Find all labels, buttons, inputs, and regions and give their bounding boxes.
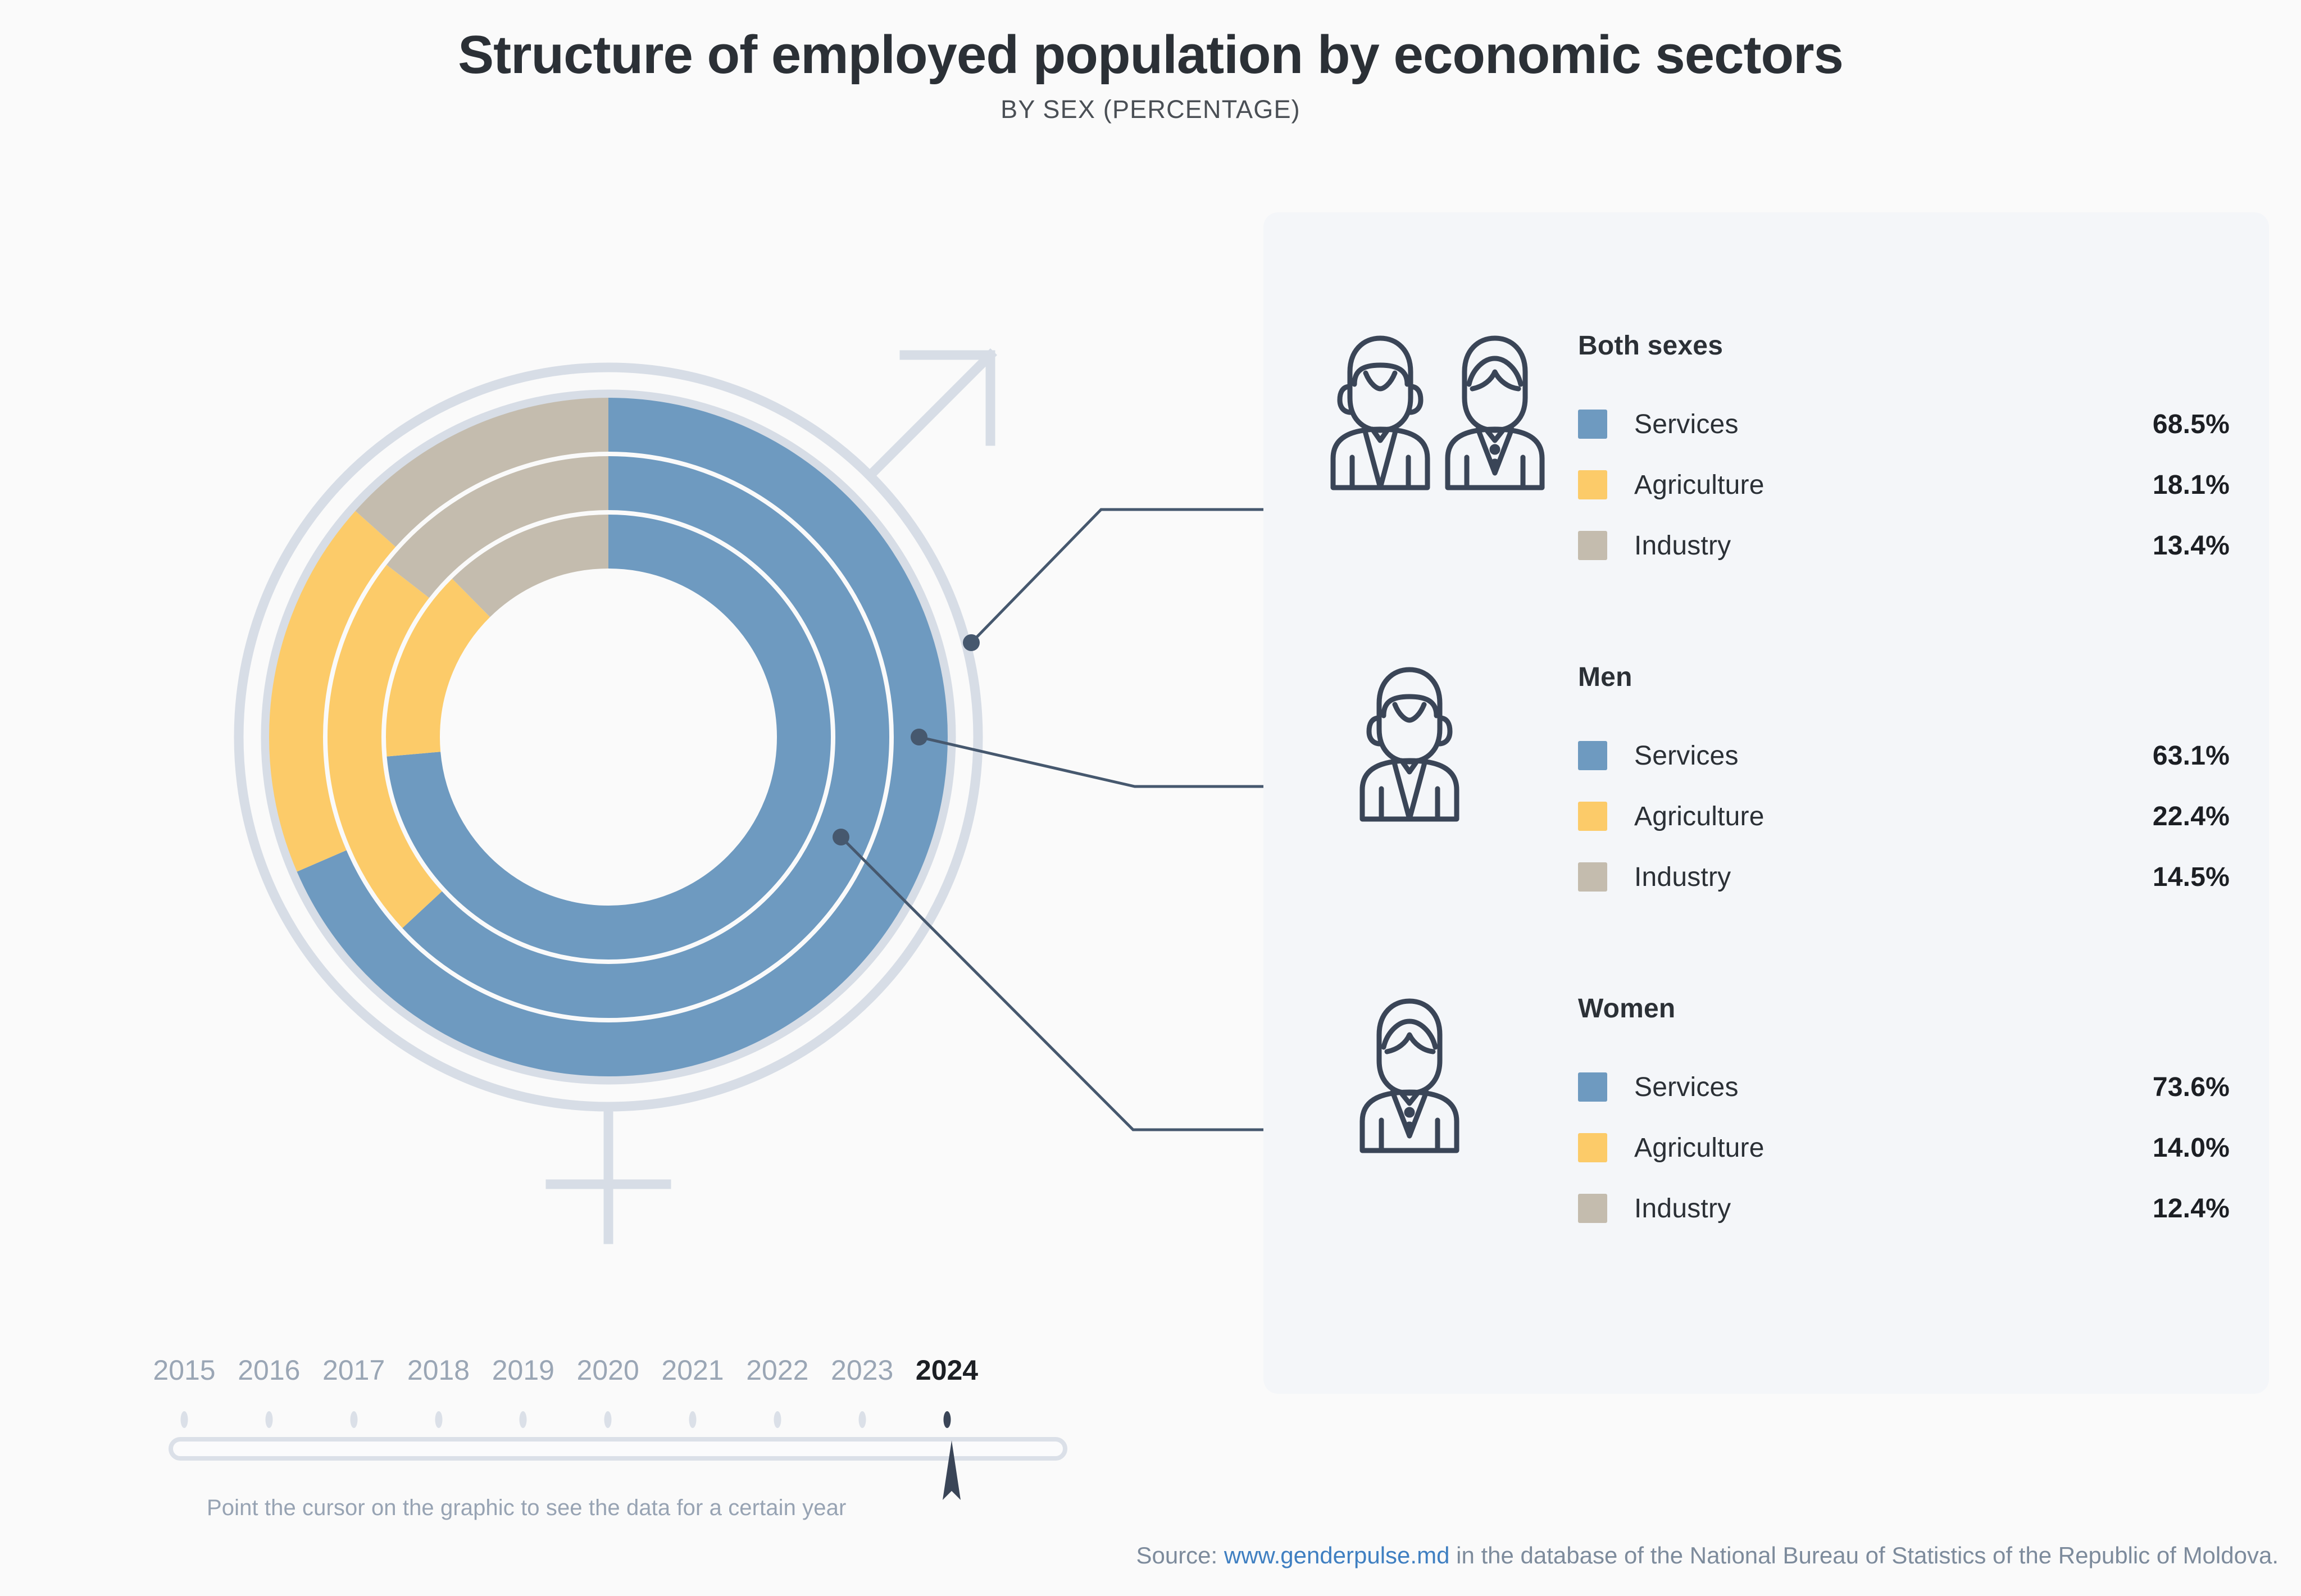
legend-value: 68.5% xyxy=(2084,409,2230,440)
source-suffix: in the database of the National Bureau o… xyxy=(1449,1542,2279,1568)
female-cross-icon xyxy=(551,1107,666,1239)
legend-heading: Men xyxy=(1578,662,2230,693)
year-label-2019[interactable]: 2019 xyxy=(492,1354,554,1386)
year-tick-2018[interactable] xyxy=(435,1411,442,1428)
legend-row-services[interactable]: Services 63.1% xyxy=(1578,725,2230,786)
timeline-hint: Point the cursor on the graphic to see t… xyxy=(207,1495,1067,1521)
swatch-industry-icon xyxy=(1578,862,1607,892)
year-tick-2019[interactable] xyxy=(520,1411,527,1428)
year-label-2024[interactable]: 2024 xyxy=(916,1354,978,1386)
year-tick-2020[interactable] xyxy=(604,1411,612,1428)
slider-thumb-icon xyxy=(940,1437,963,1503)
legend-value: 18.1% xyxy=(2084,470,2230,501)
legend-row-agriculture[interactable]: Agriculture 14.0% xyxy=(1578,1117,2230,1178)
swatch-services-icon xyxy=(1578,1072,1607,1102)
legend-value: 14.0% xyxy=(2084,1133,2230,1163)
year-label-2016[interactable]: 2016 xyxy=(238,1354,300,1386)
source-prefix: Source: xyxy=(1136,1542,1224,1568)
year-label-2017[interactable]: 2017 xyxy=(322,1354,385,1386)
year-tick-2017[interactable] xyxy=(350,1411,357,1428)
header: Structure of employed population by econ… xyxy=(0,0,2301,124)
legend-value: 13.4% xyxy=(2084,530,2230,561)
year-tick-2024[interactable] xyxy=(943,1411,951,1428)
legend-label: Industry xyxy=(1634,862,2084,893)
year-label-2023[interactable]: 2023 xyxy=(831,1354,893,1386)
year-label-2015[interactable]: 2015 xyxy=(153,1354,215,1386)
swatch-industry-icon xyxy=(1578,531,1607,560)
legend-row-agriculture[interactable]: Agriculture 18.1% xyxy=(1578,454,2230,515)
year-ticks xyxy=(169,1411,1067,1430)
legend-row-services[interactable]: Services 68.5% xyxy=(1578,394,2230,454)
donut-chart-svg xyxy=(101,208,1157,1264)
legend-heading: Both sexes xyxy=(1578,330,2230,361)
year-tick-2015[interactable] xyxy=(181,1411,188,1428)
year-tick-2016[interactable] xyxy=(265,1411,272,1428)
year-labels: 2015201620172018201920202021202220232024 xyxy=(169,1354,1067,1402)
legend-body: Both sexes Services 68.5% Agriculture 18… xyxy=(1578,330,2230,576)
legend-label: Agriculture xyxy=(1634,801,2084,832)
legend-row-services[interactable]: Services 73.6% xyxy=(1578,1057,2230,1117)
legend-row-industry[interactable]: Industry 14.5% xyxy=(1578,847,2230,907)
donut-chart[interactable] xyxy=(101,208,1157,1264)
male-arrow-icon xyxy=(870,355,990,475)
legend-value: 22.4% xyxy=(2084,801,2230,832)
swatch-agriculture-icon xyxy=(1578,1133,1607,1162)
legend-heading: Women xyxy=(1578,993,2230,1024)
man-icon xyxy=(1325,662,1578,830)
legend-body: Men Services 63.1% Agriculture 22.4% Ind… xyxy=(1578,662,2230,907)
swatch-services-icon xyxy=(1578,741,1607,770)
legend-value: 12.4% xyxy=(2084,1193,2230,1224)
swatch-services-icon xyxy=(1578,410,1607,439)
year-label-2022[interactable]: 2022 xyxy=(746,1354,808,1386)
legend-value: 63.1% xyxy=(2084,740,2230,771)
legend-body: Women Services 73.6% Agriculture 14.0% I… xyxy=(1578,993,2230,1239)
slider-track[interactable] xyxy=(169,1437,1067,1461)
page-subtitle: BY SEX (PERCENTAGE) xyxy=(0,84,2301,124)
legend-label: Industry xyxy=(1634,530,2084,561)
two-persons-icon xyxy=(1325,330,1578,499)
ring-women xyxy=(413,542,804,933)
woman-icon xyxy=(1325,993,1578,1162)
legend-label: Services xyxy=(1634,740,2084,771)
year-tick-2022[interactable] xyxy=(774,1411,781,1428)
slider-thumb[interactable] xyxy=(940,1437,963,1503)
year-label-2021[interactable]: 2021 xyxy=(661,1354,724,1386)
year-tick-2023[interactable] xyxy=(858,1411,866,1428)
legend-panel: Both sexes Services 68.5% Agriculture 18… xyxy=(1263,212,2269,1394)
legend-row-industry[interactable]: Industry 13.4% xyxy=(1578,515,2230,576)
legend-label: Services xyxy=(1634,409,2084,440)
source-link[interactable]: www.genderpulse.md xyxy=(1224,1542,1450,1568)
legend-label: Services xyxy=(1634,1072,2084,1103)
legend-row-agriculture[interactable]: Agriculture 22.4% xyxy=(1578,786,2230,847)
year-label-2018[interactable]: 2018 xyxy=(407,1354,470,1386)
infographic-root: Structure of employed population by econ… xyxy=(0,0,2301,1596)
source-footer: Source: www.genderpulse.md in the databa… xyxy=(0,1542,2301,1569)
year-timeline[interactable]: 2015201620172018201920202021202220232024… xyxy=(169,1354,1067,1521)
swatch-agriculture-icon xyxy=(1578,470,1607,499)
swatch-agriculture-icon xyxy=(1578,802,1607,831)
legend-value: 73.6% xyxy=(2084,1072,2230,1103)
legend-label: Agriculture xyxy=(1634,470,2084,501)
page-title: Structure of employed population by econ… xyxy=(0,0,2301,84)
year-label-2020[interactable]: 2020 xyxy=(577,1354,639,1386)
year-tick-2021[interactable] xyxy=(689,1411,697,1428)
legend-label: Agriculture xyxy=(1634,1133,2084,1163)
legend-label: Industry xyxy=(1634,1193,2084,1224)
swatch-industry-icon xyxy=(1578,1194,1607,1223)
legend-row-industry[interactable]: Industry 12.4% xyxy=(1578,1178,2230,1239)
legend-value: 14.5% xyxy=(2084,862,2230,893)
